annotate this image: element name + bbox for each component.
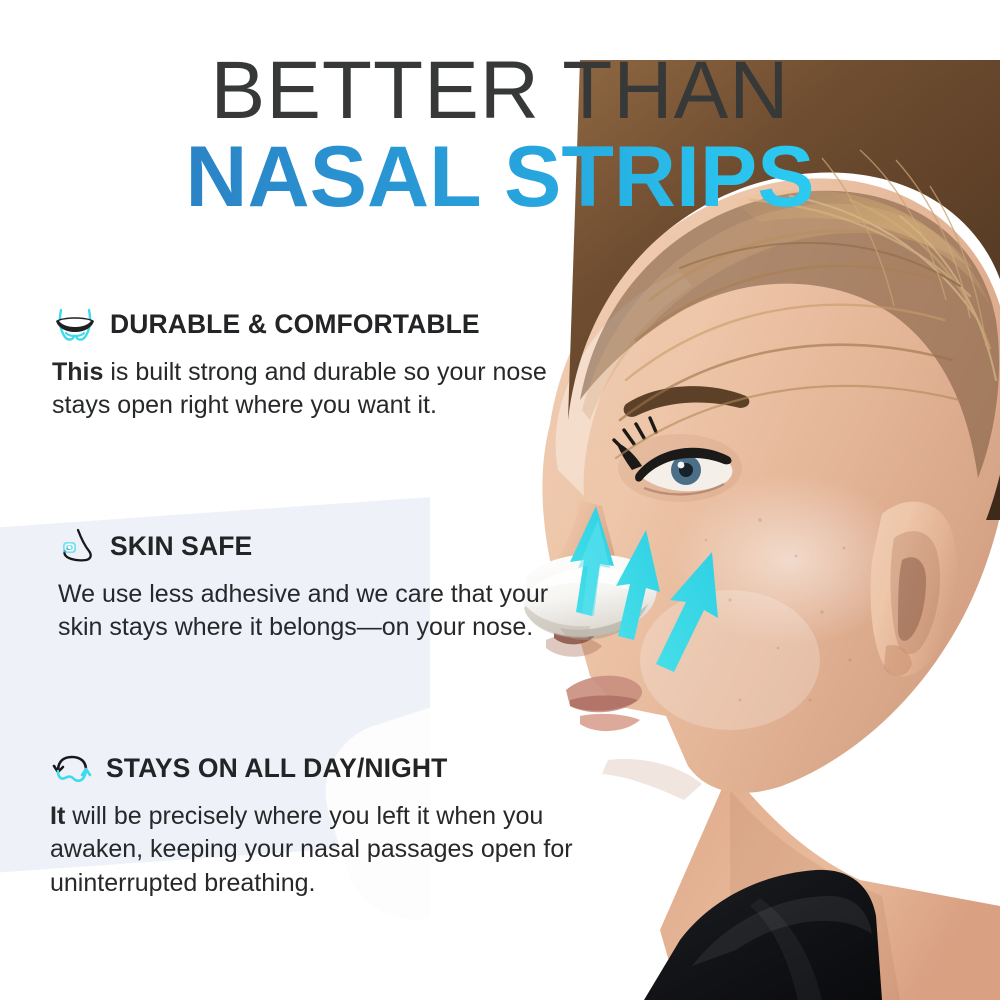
feature-skin-safe: SKIN SAFE We use less adhesive and we ca… [58, 528, 578, 645]
nose-profile-patch-icon [58, 528, 98, 564]
feature-title: SKIN SAFE [110, 531, 252, 562]
nose-front-strip-icon [52, 306, 98, 342]
feature-title: STAYS ON ALL DAY/NIGHT [106, 753, 447, 784]
feature-durable-comfortable: DURABLE & COMFORTABLE This is built stro… [52, 306, 592, 423]
feature-body: We use less adhesive and we care that yo… [58, 578, 578, 645]
feature-body-lead: It [50, 802, 65, 830]
feature-stays-on-all-day-night: STAYS ON ALL DAY/NIGHT It will be precis… [50, 750, 630, 900]
feature-heading: STAYS ON ALL DAY/NIGHT [50, 750, 630, 786]
feature-body-text: is built strong and durable so your nose… [52, 358, 547, 419]
feature-title: DURABLE & COMFORTABLE [110, 309, 480, 340]
feature-body: This is built strong and durable so your… [52, 356, 572, 423]
feature-body: It will be precisely where you left it w… [50, 800, 610, 900]
feature-body-text: will be precisely where you left it when… [50, 802, 573, 897]
promo-image-canvas: BETTER THAN NASAL STRIPS DURABLE & COMFO… [0, 0, 1000, 1000]
feature-heading: SKIN SAFE [58, 528, 578, 564]
feature-body-lead: This [52, 358, 103, 386]
feature-body-text: We use less adhesive and we care that yo… [58, 580, 548, 641]
feature-heading: DURABLE & COMFORTABLE [52, 306, 592, 342]
feature-list: DURABLE & COMFORTABLE This is built stro… [0, 0, 620, 1000]
refresh-loop-icon [50, 750, 94, 786]
